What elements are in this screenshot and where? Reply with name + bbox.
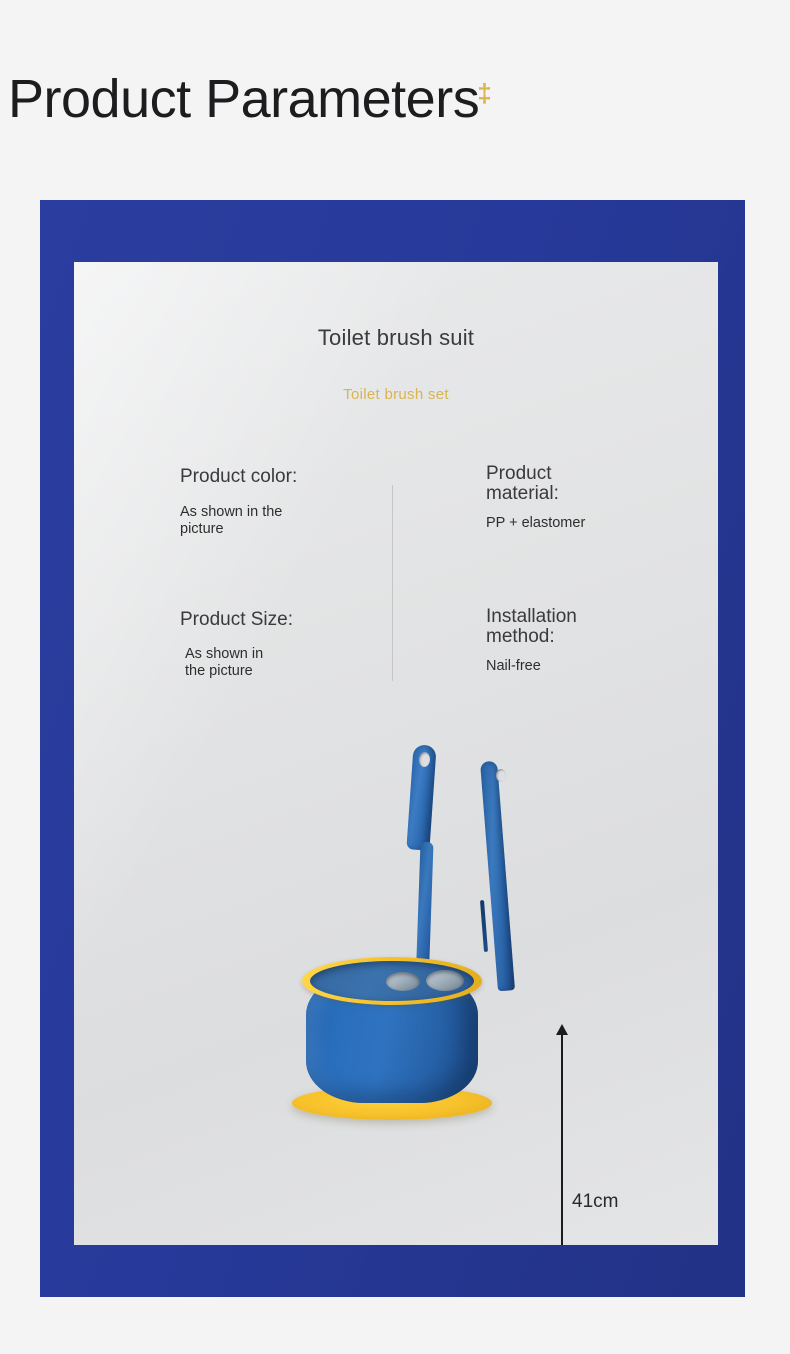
spec-value: PP + elastomer bbox=[486, 515, 585, 532]
spec-column-divider bbox=[392, 485, 393, 681]
right-brush-slot-icon bbox=[480, 900, 488, 952]
spec-label: Product Size: bbox=[180, 610, 293, 630]
height-dimension-line bbox=[561, 1032, 563, 1245]
spec-value: As shown in the picture bbox=[180, 646, 293, 679]
double-dagger-icon: ‡ bbox=[477, 80, 491, 106]
page-title: Product Parameters ‡ bbox=[8, 72, 492, 126]
spec-product-size: Product Size: As shown in the picture bbox=[180, 610, 293, 679]
spec-label: Installation method: bbox=[486, 607, 577, 647]
height-dimension-label: 41cm bbox=[572, 1191, 618, 1213]
spec-value: As shown in the picture bbox=[180, 504, 297, 537]
right-brush-handle-icon bbox=[480, 761, 515, 992]
arrow-up-icon bbox=[556, 1024, 568, 1035]
spec-product-material: Product material: PP + elastomer bbox=[486, 464, 585, 532]
spec-label: Product color: bbox=[180, 467, 297, 487]
product-photo bbox=[74, 732, 718, 1162]
page-title-text: Product Parameters bbox=[8, 72, 479, 126]
product-name-title: Toilet brush suit bbox=[74, 325, 718, 351]
spec-installation-method: Installation method: Nail-free bbox=[486, 607, 577, 675]
right-brush-hang-hole-icon bbox=[496, 769, 507, 783]
caddy-tray-hole bbox=[426, 970, 464, 991]
spec-value: Nail-free bbox=[486, 658, 577, 675]
caddy-tray-hole bbox=[386, 972, 420, 991]
spec-product-color: Product color: As shown in the picture bbox=[180, 467, 297, 537]
product-name-subtitle: Toilet brush set bbox=[74, 386, 718, 403]
spec-label: Product material: bbox=[486, 464, 585, 504]
product-spec-card: Toilet brush suit Toilet brush set Produ… bbox=[74, 262, 718, 1245]
